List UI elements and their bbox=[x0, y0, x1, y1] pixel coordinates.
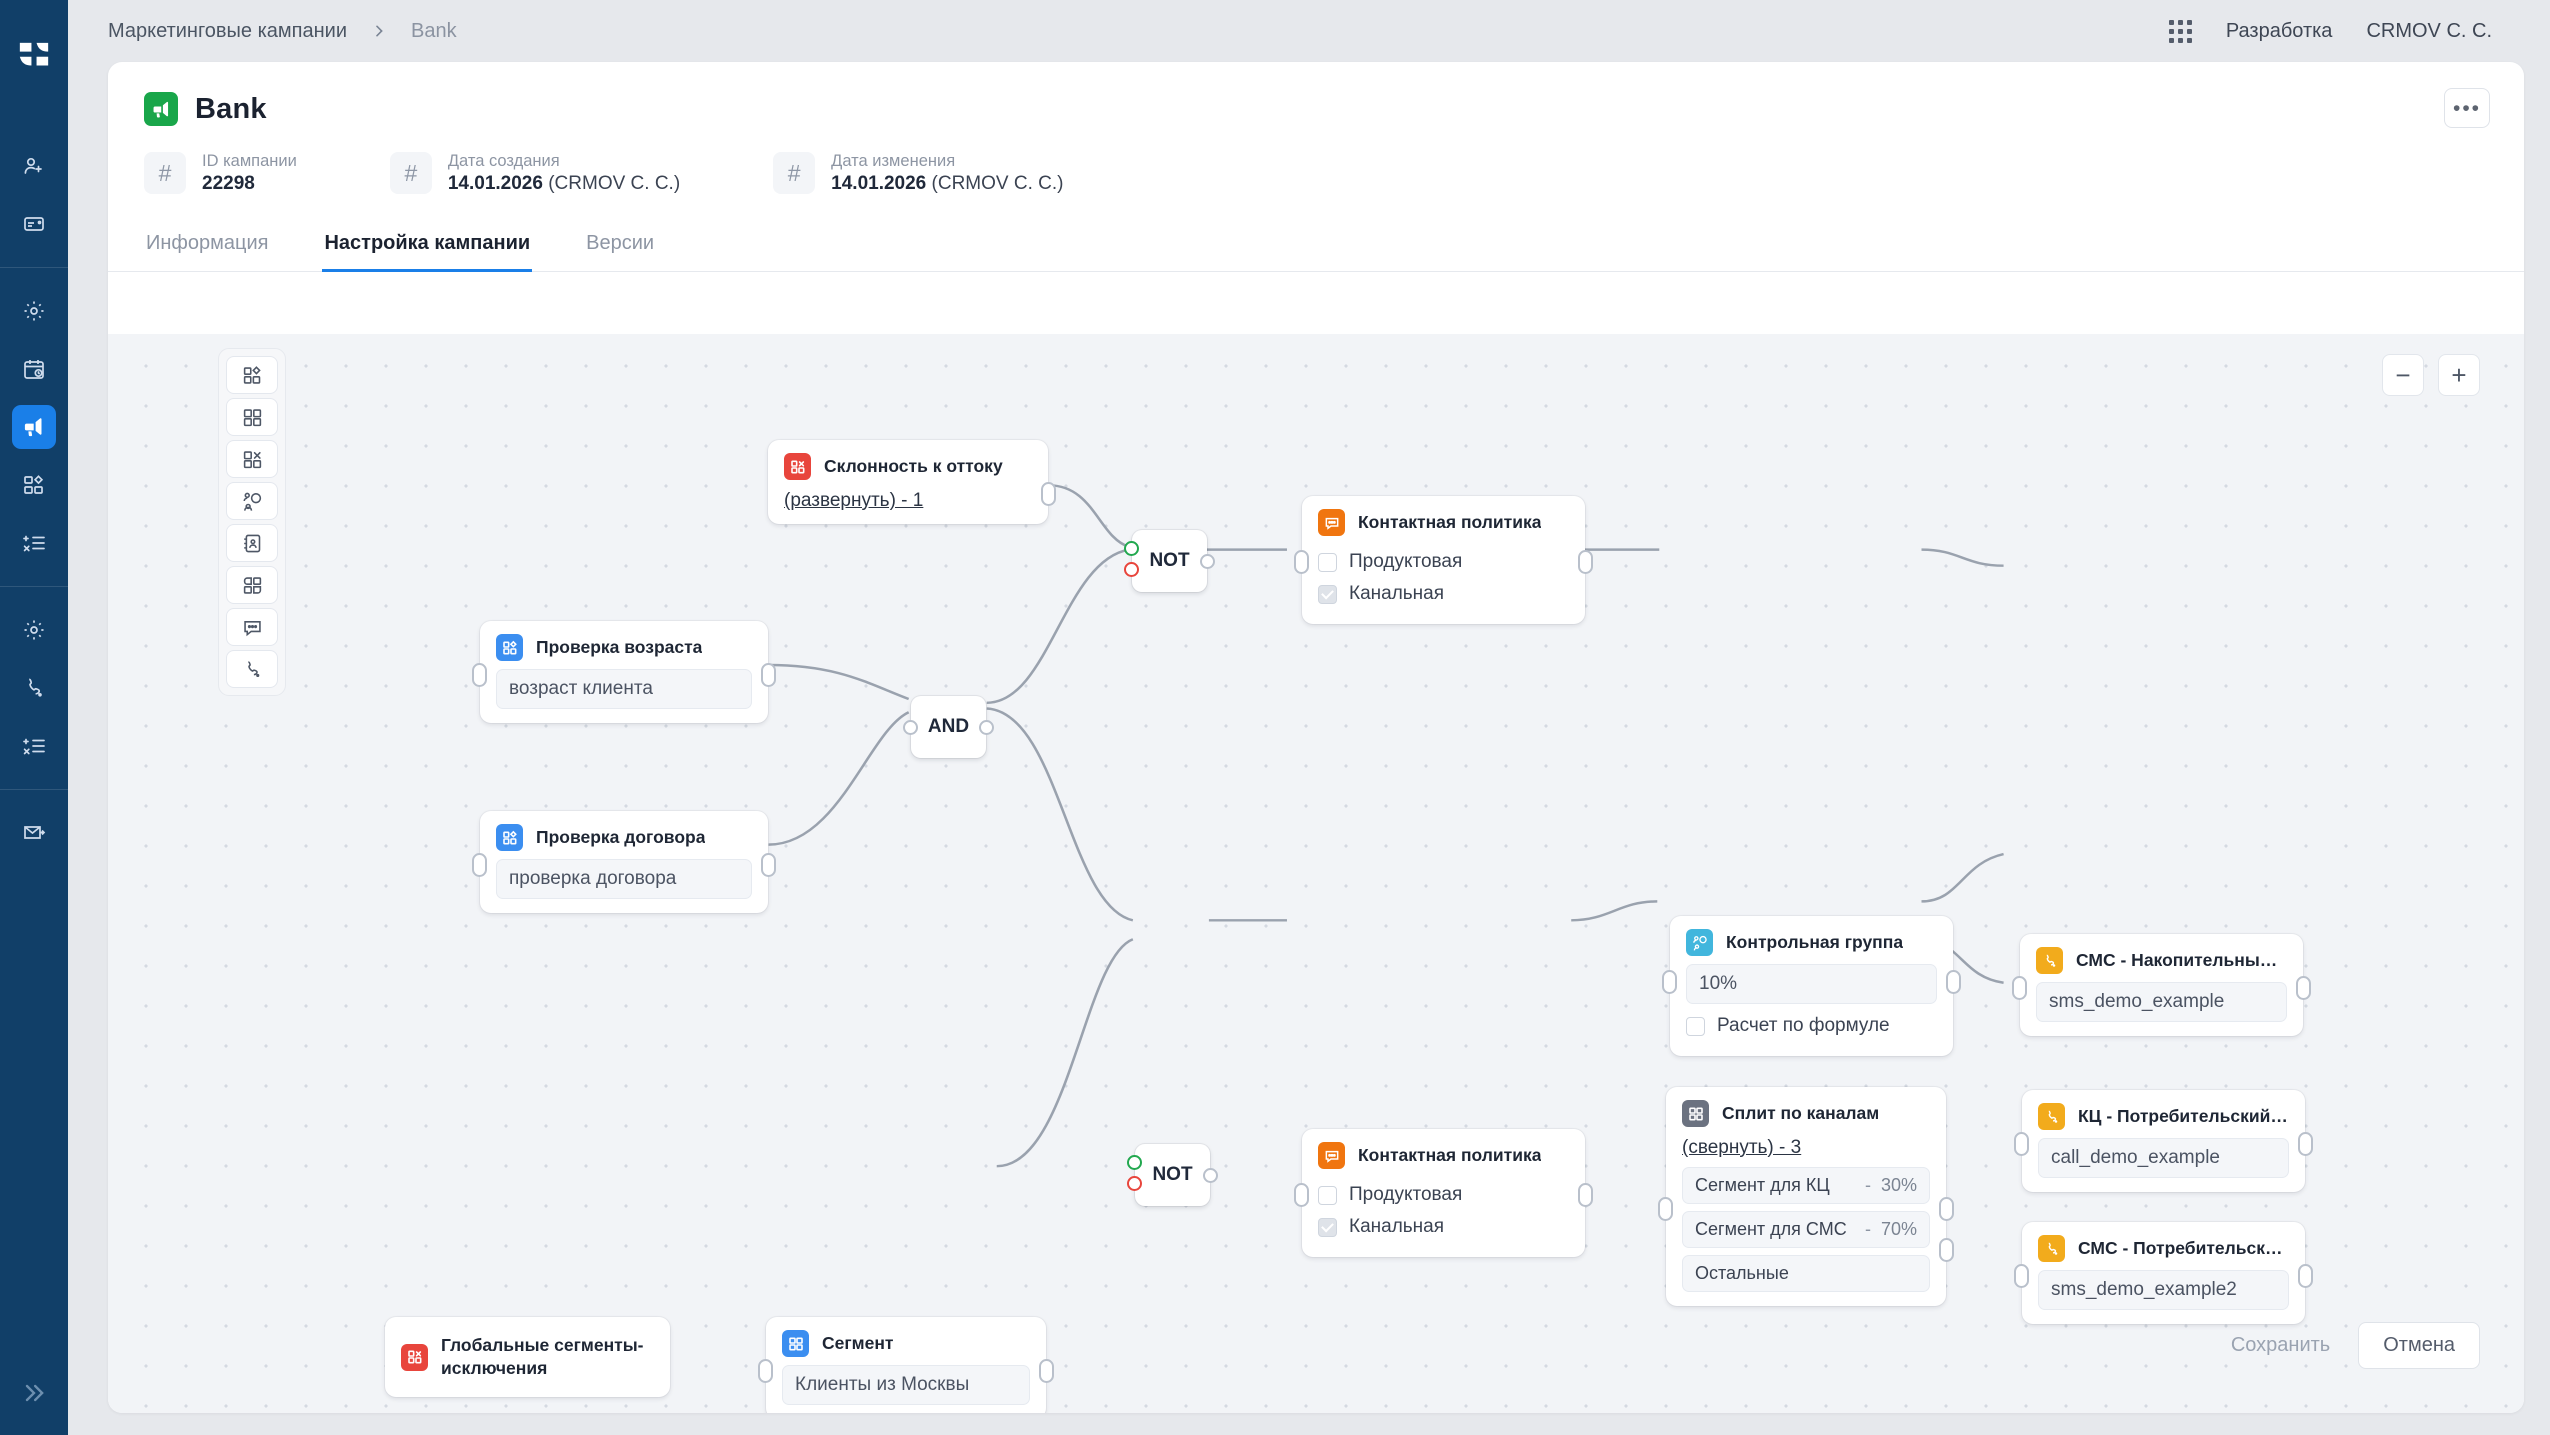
node-title: СМС - Накопительный счет bbox=[2076, 950, 2287, 971]
input-port[interactable] bbox=[758, 1359, 773, 1383]
split-row-dash: - bbox=[1865, 1219, 1871, 1240]
node-title: Контрольная группа bbox=[1726, 932, 1903, 953]
node-body: возраст клиента bbox=[480, 669, 768, 723]
rail-expand-button[interactable] bbox=[0, 1379, 68, 1407]
footer-actions: Сохранить Отмена bbox=[2225, 1322, 2480, 1369]
app-logo[interactable] bbox=[17, 40, 51, 79]
split-row-percent: 70% bbox=[1881, 1219, 1917, 1240]
meta-value: 14.01.2026 (CRMOV С. С.) bbox=[831, 172, 1063, 197]
checkbox-label: Продуктовая bbox=[1349, 551, 1462, 573]
more-actions-button[interactable]: ••• bbox=[2444, 88, 2490, 128]
control-group-icon[interactable] bbox=[226, 482, 278, 520]
segment-icon bbox=[496, 824, 523, 851]
output-port[interactable] bbox=[1041, 482, 1056, 506]
exclusion-icon bbox=[401, 1344, 428, 1371]
zoom-out-button[interactable]: − bbox=[2382, 354, 2424, 396]
node-body: sms_demo_example bbox=[2020, 982, 2303, 1036]
checkbox-label: Канальная bbox=[1349, 583, 1444, 605]
output-port-kc[interactable] bbox=[1939, 1197, 1954, 1221]
message-icon[interactable] bbox=[226, 608, 278, 646]
meta-value: 22298 bbox=[202, 172, 297, 197]
checkbox-row-product[interactable]: Продуктовая bbox=[1318, 1179, 1569, 1211]
blocks-icon[interactable] bbox=[12, 463, 56, 507]
node-operator-not-2[interactable]: NOT bbox=[1135, 1144, 1210, 1206]
breadcrumb-root[interactable]: Маркетинговые кампании bbox=[108, 20, 347, 43]
checkbox-label: Канальная bbox=[1349, 1216, 1444, 1238]
sms-template-field[interactable]: sms_demo_example2 bbox=[2038, 1270, 2289, 1310]
node-operator-not-1[interactable]: NOT bbox=[1132, 530, 1207, 592]
save-button[interactable]: Сохранить bbox=[2225, 1324, 2336, 1367]
checkbox-label: Расчет по формуле bbox=[1717, 1015, 1890, 1037]
blocks-icon[interactable] bbox=[226, 398, 278, 436]
flow-canvas[interactable]: − + Склонность к оттоку (развернуть) - 1… bbox=[108, 334, 2524, 1413]
tab-versions[interactable]: Версии bbox=[584, 224, 656, 272]
output-port[interactable] bbox=[1039, 1359, 1054, 1383]
input-port[interactable] bbox=[2014, 1264, 2029, 1288]
input-port-false[interactable] bbox=[1127, 1176, 1142, 1191]
output-port[interactable] bbox=[979, 720, 994, 735]
phone-flow-icon bbox=[2036, 947, 2063, 974]
input-port-true[interactable] bbox=[1124, 541, 1139, 556]
node-title: Проверка возраста bbox=[536, 637, 702, 658]
node-body: проверка договора bbox=[480, 859, 768, 913]
split-row-percent: 30% bbox=[1881, 1175, 1917, 1196]
meta-label: Дата создания bbox=[448, 150, 680, 172]
node-control-group[interactable]: Контрольная группа 10% Расчет по формуле bbox=[1670, 916, 1953, 1056]
input-port[interactable] bbox=[1294, 550, 1309, 574]
exclusion-icon[interactable] bbox=[226, 440, 278, 478]
node-title: Проверка договора bbox=[536, 827, 705, 848]
input-port[interactable] bbox=[2012, 976, 2027, 1000]
checkbox[interactable] bbox=[1318, 553, 1337, 572]
calendar-clock-icon[interactable] bbox=[12, 347, 56, 391]
output-port[interactable] bbox=[1200, 554, 1215, 569]
node-contact-policy-bottom[interactable]: Контактная политика Продуктовая Канальна… bbox=[1302, 1129, 1585, 1257]
meta-label: ID кампании bbox=[202, 150, 297, 172]
rail-group-4 bbox=[0, 789, 68, 876]
phone-flow-icon bbox=[2038, 1103, 2065, 1130]
checkbox-row-channel[interactable]: Канальная bbox=[1318, 578, 1569, 610]
node-title: СМС - Потребительский кре... bbox=[2078, 1238, 2289, 1259]
input-port[interactable] bbox=[1294, 1183, 1309, 1207]
input-port[interactable] bbox=[472, 663, 487, 687]
node-body: 10% Расчет по формуле bbox=[1670, 964, 1953, 1056]
call-template-field[interactable]: call_demo_example bbox=[2038, 1138, 2289, 1178]
exclusion-icon bbox=[784, 453, 811, 480]
split-row-name: Сегмент для СМС bbox=[1695, 1219, 1855, 1240]
node-header: Склонность к оттоку bbox=[768, 440, 1048, 488]
tab-information[interactable]: Информация bbox=[144, 224, 270, 272]
split-row-dash: - bbox=[1865, 1175, 1871, 1196]
output-port[interactable] bbox=[761, 853, 776, 877]
meta-value-main: 14.01.2026 bbox=[448, 173, 543, 194]
node-body: Продуктовая Канальная bbox=[1302, 544, 1585, 624]
node-header: Проверка договора bbox=[480, 811, 768, 859]
message-icon bbox=[1318, 509, 1345, 536]
gear-icon[interactable] bbox=[12, 289, 56, 333]
message-icon bbox=[1318, 1142, 1345, 1169]
node-title: Глобальные сегменты-исключения bbox=[441, 1334, 654, 1380]
hash-icon: # bbox=[144, 152, 186, 194]
node-global-exclusion-segments[interactable]: Глобальные сегменты-исключения bbox=[385, 1317, 670, 1397]
node-channel-split[interactable]: Сплит по каналам (свернуть) - 3 Сегмент … bbox=[1666, 1087, 1946, 1306]
output-port[interactable] bbox=[1578, 550, 1593, 574]
segment-icon bbox=[782, 1330, 809, 1357]
formula-icon[interactable] bbox=[12, 521, 56, 565]
cancel-button[interactable]: Отмена bbox=[2358, 1322, 2480, 1369]
node-segment[interactable]: Сегмент Клиенты из Москвы bbox=[766, 1317, 1046, 1413]
output-port[interactable] bbox=[2298, 1132, 2313, 1156]
topbar-right: Разработка CRMOV С. С. bbox=[2169, 20, 2550, 43]
output-port[interactable] bbox=[1946, 970, 1961, 994]
node-sms-credit[interactable]: СМС - Потребительский кре... sms_demo_ex… bbox=[2022, 1222, 2305, 1324]
sms-template-field[interactable]: sms_demo_example bbox=[2036, 982, 2287, 1022]
input-port-true[interactable] bbox=[1127, 1155, 1142, 1170]
checkbox-label: Продуктовая bbox=[1349, 1184, 1462, 1206]
node-body: Клиенты из Москвы bbox=[766, 1365, 1046, 1413]
node-age-check[interactable]: Проверка возраста возраст клиента bbox=[480, 621, 768, 723]
segment-icon bbox=[496, 634, 523, 661]
contact-book-icon[interactable] bbox=[226, 524, 278, 562]
canvas-toolbar bbox=[218, 348, 286, 696]
meta-value: 14.01.2026 (CRMOV С. С.) bbox=[448, 172, 680, 197]
input-port[interactable] bbox=[903, 720, 918, 735]
node-churn-propensity[interactable]: Склонность к оттоку (развернуть) - 1 bbox=[768, 440, 1048, 524]
control-group-icon bbox=[1686, 929, 1713, 956]
node-header: Сегмент bbox=[766, 1317, 1046, 1365]
hash-icon: # bbox=[773, 152, 815, 194]
meta-row: # ID кампании 22298 # Дата создания 14.0… bbox=[144, 150, 2488, 197]
node-title: Контактная политика bbox=[1358, 512, 1541, 533]
checkbox[interactable] bbox=[1686, 1017, 1705, 1036]
segment-value-field[interactable]: Клиенты из Москвы bbox=[782, 1365, 1030, 1405]
topbar: Маркетинговые кампании Bank Разработка C… bbox=[68, 0, 2550, 62]
node-title: Склонность к оттоку bbox=[824, 456, 1003, 477]
card-icon[interactable] bbox=[12, 202, 56, 246]
chevron-right-icon bbox=[371, 23, 387, 39]
output-port[interactable] bbox=[761, 663, 776, 687]
meta-value-main: 14.01.2026 bbox=[831, 173, 926, 194]
checkbox[interactable] bbox=[1318, 585, 1337, 604]
input-port[interactable] bbox=[472, 853, 487, 877]
card-header: Bank ••• # ID кампании 22298 # Дата созд… bbox=[108, 62, 2524, 197]
input-port[interactable] bbox=[2014, 1132, 2029, 1156]
campaign-card: Bank ••• # ID кампании 22298 # Дата созд… bbox=[108, 62, 2524, 1413]
title-row: Bank bbox=[144, 92, 2488, 126]
split-row[interactable]: Остальные bbox=[1682, 1255, 1930, 1292]
node-body: Продуктовая Канальная bbox=[1302, 1177, 1585, 1257]
env-label[interactable]: Разработка bbox=[2226, 20, 2333, 43]
input-port-false[interactable] bbox=[1124, 562, 1139, 577]
node-header: КЦ - Потребительский кред... bbox=[2022, 1090, 2305, 1138]
operator-label: AND bbox=[928, 716, 969, 738]
node-call-center-credit[interactable]: КЦ - Потребительский кред... call_demo_e… bbox=[2022, 1090, 2305, 1192]
node-header: СМС - Потребительский кре... bbox=[2022, 1222, 2305, 1270]
node-body: Сегмент для КЦ - 30% Сегмент для СМС - 7… bbox=[1666, 1167, 1946, 1306]
checkbox-row-product[interactable]: Продуктовая bbox=[1318, 546, 1569, 578]
blocks-icon bbox=[1682, 1100, 1709, 1127]
meta-value-author: (CRMOV С. С.) bbox=[548, 173, 680, 194]
formula-icon[interactable] bbox=[12, 724, 56, 768]
input-port[interactable] bbox=[1658, 1197, 1673, 1221]
operator-label: NOT bbox=[1149, 550, 1189, 572]
node-title: КЦ - Потребительский кред... bbox=[2078, 1106, 2289, 1127]
zoom-controls: − + bbox=[2382, 354, 2480, 396]
split-row[interactable]: Сегмент для СМС - 70% bbox=[1682, 1211, 1930, 1248]
node-body: call_demo_example bbox=[2022, 1138, 2305, 1192]
control-group-percent-field[interactable]: 10% bbox=[1686, 964, 1937, 1004]
sidebar-item-campaigns[interactable] bbox=[12, 405, 56, 449]
meta-created-date: # Дата создания 14.01.2026 (CRMOV С. С.) bbox=[390, 150, 680, 197]
split-icon[interactable] bbox=[226, 566, 278, 604]
meta-modified-date: # Дата изменения 14.01.2026 (CRMOV С. С.… bbox=[773, 150, 1063, 197]
output-port[interactable] bbox=[1578, 1183, 1593, 1207]
node-header: СМС - Накопительный счет bbox=[2020, 934, 2303, 982]
node-header: Контактная политика bbox=[1302, 1129, 1585, 1177]
node-operator-and[interactable]: AND bbox=[911, 696, 986, 758]
checkbox-row-channel[interactable]: Канальная bbox=[1318, 1211, 1569, 1243]
apps-grid-icon[interactable] bbox=[2169, 20, 2192, 43]
phone-flow-icon bbox=[2038, 1235, 2065, 1262]
left-nav-rail bbox=[0, 0, 68, 1435]
rail-group-3 bbox=[0, 586, 68, 789]
node-body: sms_demo_example2 bbox=[2022, 1270, 2305, 1324]
node-header: Проверка возраста bbox=[480, 621, 768, 669]
node-expand-link[interactable]: (развернуть) - 1 bbox=[768, 488, 1048, 524]
output-port[interactable] bbox=[1203, 1168, 1218, 1183]
output-port[interactable] bbox=[2298, 1264, 2313, 1288]
split-row[interactable]: Сегмент для КЦ - 30% bbox=[1682, 1167, 1930, 1204]
age-value-field[interactable]: возраст клиента bbox=[496, 669, 752, 709]
node-sms-savings-account[interactable]: СМС - Накопительный счет sms_demo_exampl… bbox=[2020, 934, 2303, 1036]
contract-value-field[interactable]: проверка договора bbox=[496, 859, 752, 899]
output-port[interactable] bbox=[2296, 976, 2311, 1000]
checkbox[interactable] bbox=[1318, 1218, 1337, 1237]
rail-group-2 bbox=[0, 267, 68, 586]
segment-icon[interactable] bbox=[226, 356, 278, 394]
output-port-sms[interactable] bbox=[1939, 1238, 1954, 1262]
node-title: Сплит по каналам bbox=[1722, 1103, 1879, 1124]
user-add-icon[interactable] bbox=[12, 144, 56, 188]
page-title: Bank bbox=[195, 93, 267, 126]
checkbox[interactable] bbox=[1318, 1186, 1337, 1205]
tab-bar: Информация Настройка кампании Версии bbox=[108, 223, 2524, 272]
breadcrumb-current: Bank bbox=[411, 20, 457, 43]
meta-value-main: 22298 bbox=[202, 173, 255, 194]
mail-send-icon[interactable] bbox=[12, 811, 56, 855]
operator-label: NOT bbox=[1152, 1164, 1192, 1186]
tab-campaign-settings[interactable]: Настройка кампании bbox=[322, 224, 532, 272]
checkbox-row-formula[interactable]: Расчет по формуле bbox=[1686, 1010, 1937, 1042]
node-header: Сплит по каналам bbox=[1666, 1087, 1946, 1135]
rail-group-1 bbox=[0, 123, 68, 267]
meta-campaign-id: # ID кампании 22298 bbox=[144, 150, 297, 197]
node-title: Сегмент bbox=[822, 1333, 893, 1354]
node-contact-policy-top[interactable]: Контактная политика Продуктовая Канальна… bbox=[1302, 496, 1585, 624]
node-header: Глобальные сегменты-исключения bbox=[385, 1317, 670, 1397]
meta-label: Дата изменения bbox=[831, 150, 1063, 172]
gear-icon[interactable] bbox=[12, 608, 56, 652]
zoom-in-button[interactable]: + bbox=[2438, 354, 2480, 396]
node-title: Контактная политика bbox=[1358, 1145, 1541, 1166]
node-header: Контрольная группа bbox=[1670, 916, 1953, 964]
node-collapse-link[interactable]: (свернуть) - 3 bbox=[1666, 1135, 1946, 1167]
node-header: Контактная политика bbox=[1302, 496, 1585, 544]
phone-flow-icon[interactable] bbox=[226, 650, 278, 688]
hash-icon: # bbox=[390, 152, 432, 194]
split-row-name: Сегмент для КЦ bbox=[1695, 1175, 1855, 1196]
megaphone-icon bbox=[144, 92, 178, 126]
node-contract-check[interactable]: Проверка договора проверка договора bbox=[480, 811, 768, 913]
phone-flow-icon[interactable] bbox=[12, 666, 56, 710]
user-menu[interactable]: CRMOV С. С. bbox=[2366, 20, 2492, 43]
split-row-name: Остальные bbox=[1695, 1263, 1917, 1284]
meta-value-author: (CRMOV С. С.) bbox=[932, 173, 1064, 194]
input-port[interactable] bbox=[1662, 970, 1677, 994]
